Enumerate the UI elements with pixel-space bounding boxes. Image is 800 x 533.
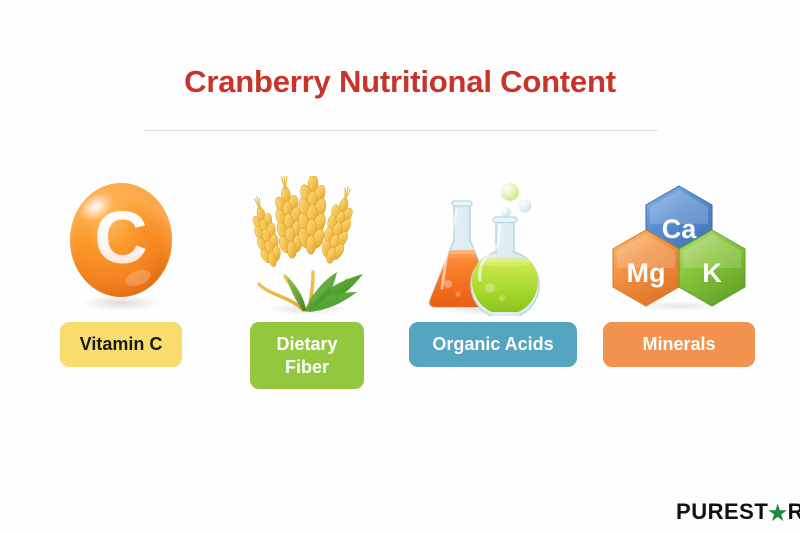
minerals-icon-box: Ca Mg K bbox=[609, 176, 749, 316]
infographic-canvas: Cranberry Nutritional Content bbox=[0, 0, 800, 533]
bubble-medium bbox=[519, 200, 532, 213]
nutrient-card-row: C Vitamin C bbox=[0, 176, 800, 389]
bubble-small bbox=[501, 207, 511, 217]
element-symbol-mg: Mg bbox=[627, 258, 666, 288]
chip-dietary-fiber[interactable]: Dietary Fiber bbox=[250, 322, 363, 389]
chip-minerals[interactable]: Minerals bbox=[603, 322, 755, 367]
round-flask bbox=[468, 217, 546, 316]
nutrient-card-dietary-fiber[interactable]: Dietary Fiber bbox=[214, 176, 400, 389]
nutrient-card-organic-acids[interactable]: Organic Acids bbox=[400, 176, 586, 367]
vitamin-c-icon-box: C bbox=[62, 176, 180, 316]
laboratory-flasks-icon bbox=[418, 176, 568, 316]
star-icon: ★ bbox=[768, 503, 787, 524]
chip-fiber-line1: Dietary bbox=[276, 334, 337, 354]
chip-vitamin-c[interactable]: Vitamin C bbox=[60, 322, 182, 367]
title-divider bbox=[143, 130, 658, 131]
nutrient-card-minerals[interactable]: Ca Mg K Minerals bbox=[586, 176, 772, 367]
mineral-hexagons-icon: Ca Mg K bbox=[609, 180, 749, 312]
vitamin-c-sphere-icon: C bbox=[62, 180, 180, 312]
chip-fiber-line2: Fiber bbox=[285, 357, 329, 377]
nutrient-card-vitamin-c[interactable]: C Vitamin C bbox=[28, 176, 214, 367]
chip-organic-acids[interactable]: Organic Acids bbox=[409, 322, 577, 367]
wheat-icon-box bbox=[237, 176, 377, 316]
element-symbol-k: K bbox=[702, 258, 722, 288]
logo-text-after: R bbox=[788, 499, 800, 525]
element-symbol-ca: Ca bbox=[662, 214, 697, 244]
flasks-icon-box bbox=[418, 176, 568, 316]
page-title: Cranberry Nutritional Content bbox=[0, 64, 800, 100]
logo-text-before: PUREST bbox=[676, 499, 768, 525]
wheat-stalks-icon bbox=[237, 176, 377, 316]
purestar-logo[interactable]: PUREST★R bbox=[676, 499, 800, 525]
bubble-large bbox=[501, 183, 519, 201]
